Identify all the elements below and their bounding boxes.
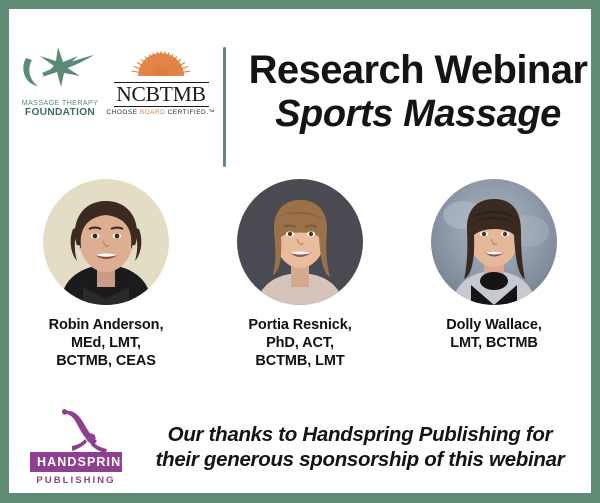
thanks-line-1: Our thanks to Handspring Publishing for [135, 423, 585, 448]
mtf-line2: FOUNDATION [25, 107, 95, 118]
sponsor-thanks-text: Our thanks to Handspring Publishing for … [135, 423, 591, 472]
speaker-photo-portia-resnick [237, 179, 363, 305]
poster-canvas: MASSAGE THERAPY FOUNDATION [9, 9, 591, 493]
tagline-pre: CHOOSE [107, 109, 140, 116]
handstand-figure-icon [57, 408, 109, 454]
handspring-band-text: HANDSPRING [30, 452, 122, 472]
speakers-row: Robin Anderson, MEd, LMT, BCTMB, CEAS [9, 179, 591, 404]
portrait-robin-anderson [43, 179, 169, 305]
title-line-1: Research Webinar [237, 49, 591, 92]
portrait-portia-resnick [237, 179, 363, 305]
ncbtmb-acronym: NCBTMB [114, 82, 209, 107]
handspring-publishing-logo: HANDSPRING PUBLISHING [17, 410, 135, 486]
speaker-photo-dolly-wallace [431, 179, 557, 305]
speaker-card-robin-anderson: Robin Anderson, MEd, LMT, BCTMB, CEAS [13, 179, 199, 370]
speaker-card-portia-resnick: Portia Resnick, PhD, ACT, BCTMB, LMT [207, 179, 393, 370]
title-line-2: Sports Massage [237, 94, 591, 135]
mtf-line1: MASSAGE THERAPY [22, 98, 99, 107]
speaker-card-dolly-wallace: Dolly Wallace, LMT, BCTMB [401, 179, 587, 352]
poster-title: Research Webinar Sports Massage [237, 49, 591, 135]
poster-header: MASSAGE THERAPY FOUNDATION [9, 9, 591, 161]
massage-therapy-foundation-logo: MASSAGE THERAPY FOUNDATION [14, 48, 106, 118]
header-vertical-divider [223, 47, 226, 167]
ncbtmb-tagline: CHOOSE BOARD CERTIFIED.™ [107, 109, 216, 116]
poster-footer: HANDSPRING PUBLISHING Our thanks to Hand… [9, 403, 591, 493]
tagline-board: BOARD [140, 109, 165, 116]
portrait-dolly-wallace [431, 179, 557, 305]
speaker-name-dolly-wallace: Dolly Wallace, LMT, BCTMB [446, 316, 542, 352]
mtf-star-icon [20, 46, 100, 88]
handspring-sub-text: PUBLISHING [30, 475, 122, 486]
tagline-post: CERTIFIED.™ [165, 109, 215, 116]
organization-logos: MASSAGE THERAPY FOUNDATION [13, 43, 211, 123]
thanks-line-2: their generous sponsorship of this webin… [135, 448, 585, 473]
speaker-photo-robin-anderson [43, 179, 169, 305]
speaker-name-robin-anderson: Robin Anderson, MEd, LMT, BCTMB, CEAS [49, 316, 164, 370]
webinar-poster: MASSAGE THERAPY FOUNDATION [0, 0, 600, 503]
ncbtmb-logo: NCBTMB CHOOSE BOARD CERTIFIED.™ [112, 50, 210, 116]
sunburst-icon [126, 50, 196, 76]
speaker-name-portia-resnick: Portia Resnick, PhD, ACT, BCTMB, LMT [248, 316, 351, 370]
